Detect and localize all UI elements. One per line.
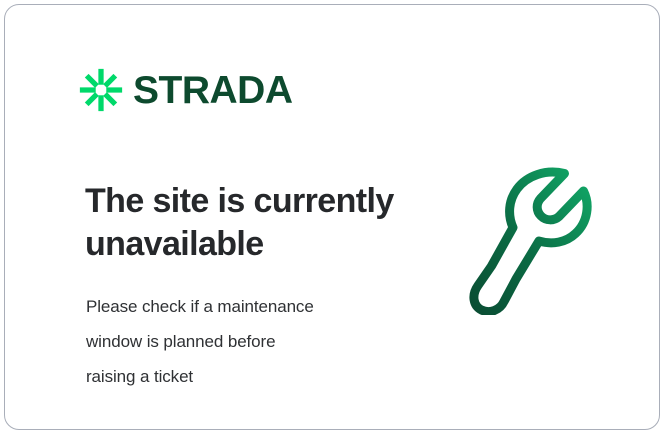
brand-logo: STRADA [79, 68, 293, 112]
status-description-line-1: Please check if a maintenance [86, 290, 406, 325]
status-description-line-3: raising a ticket [86, 360, 406, 395]
page-title-line-1: The site is currently [85, 180, 415, 224]
status-description: Please check if a maintenance window is … [86, 290, 406, 395]
page-title: The site is currently unavailable [85, 180, 415, 267]
status-card: STRADA The site is currently unavailable… [4, 4, 660, 430]
status-description-line-2: window is planned before [86, 325, 406, 360]
page-root: STRADA The site is currently unavailable… [0, 0, 666, 436]
strada-asterisk-icon [79, 68, 123, 112]
wrench-icon [460, 160, 615, 315]
page-title-line-2: unavailable [85, 223, 415, 267]
brand-wordmark: STRADA [133, 71, 293, 110]
